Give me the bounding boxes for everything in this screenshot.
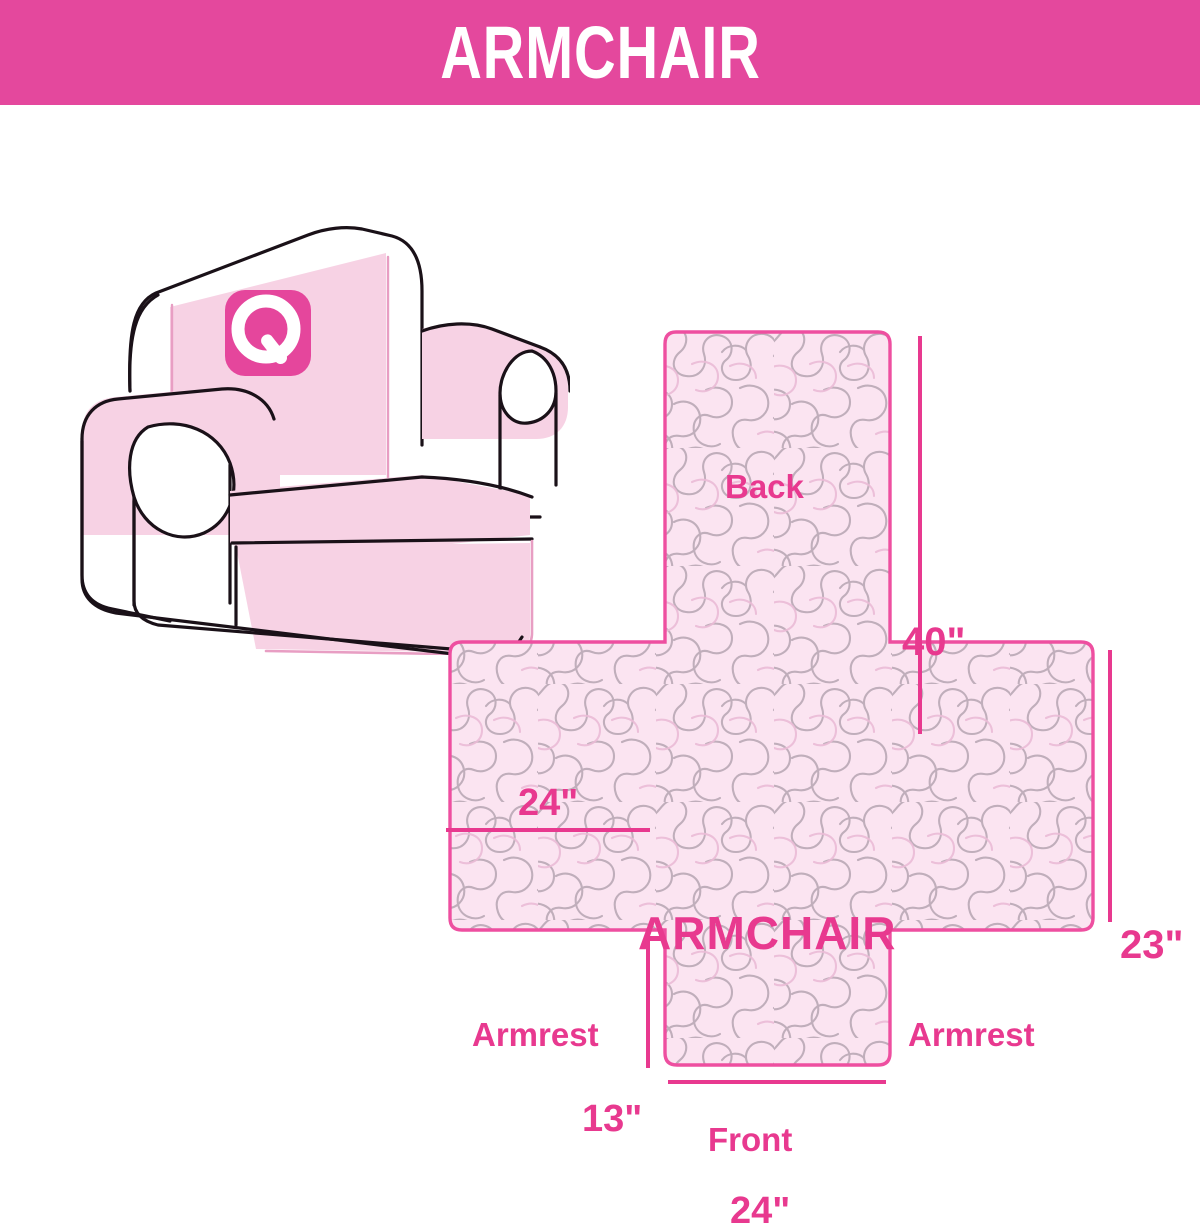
dimension-label-front-height: 13"	[582, 1100, 642, 1138]
panel-label-front: Front	[708, 1123, 792, 1156]
q-logo-badge	[225, 290, 311, 376]
panel-label-armrest-left: Armrest	[472, 1018, 599, 1051]
header-banner: ARMCHAIR	[0, 0, 1200, 105]
cross-layout-diagram: Back ARMCHAIR Armrest Armrest Front 40" …	[420, 330, 1200, 1200]
main-content-area: Back ARMCHAIR Armrest Armrest Front 40" …	[0, 105, 1200, 1200]
panel-label-armrest-right: Armrest	[908, 1018, 1035, 1051]
dimension-label-center-height: 23"	[1120, 925, 1183, 965]
page-title: ARMCHAIR	[440, 16, 760, 90]
dimension-label-back-height: 40"	[902, 622, 965, 662]
panel-label-back: Back	[725, 470, 804, 503]
diagram-center-label: ARMCHAIR	[638, 910, 896, 956]
dimension-label-front-width: 24"	[730, 1192, 790, 1230]
dimension-label-armrest-width: 24"	[518, 784, 578, 822]
